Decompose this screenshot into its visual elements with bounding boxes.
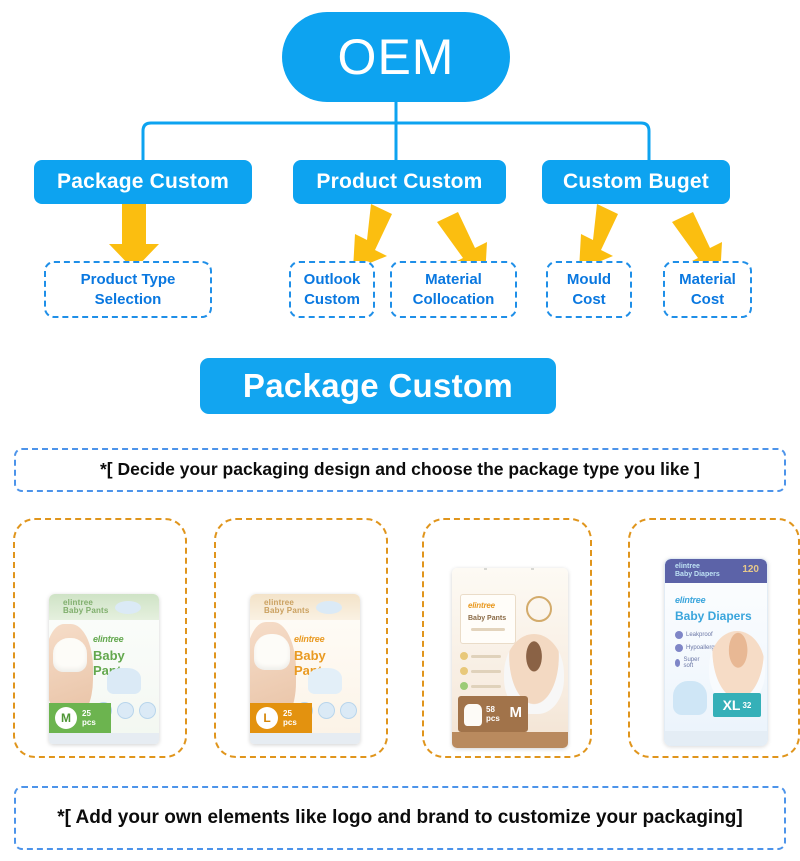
product-frame-1[interactable]: elintree Baby Pants elintree Baby Pants … [13, 518, 187, 758]
feature-badge-icon [318, 702, 335, 719]
note-custom-elements: *[ Add your own elements like logo and b… [14, 786, 786, 850]
package-handle [484, 568, 534, 570]
feature-badge-icon [340, 702, 357, 719]
pack-count-badge: 120 [742, 564, 759, 575]
package-top-header: elintree Baby Diapers [675, 563, 720, 580]
brand-logo: elintree [294, 634, 324, 644]
leaf-node-product-type-selection[interactable]: Product Type Selection [44, 261, 212, 318]
pack-count: 32 [742, 701, 751, 710]
feature-bullet: Leakproof [675, 631, 713, 639]
size-label: L [256, 707, 278, 729]
diaper-thumbnail [464, 704, 482, 726]
leaf-label-line2: Cost [572, 290, 605, 310]
oem-root-label: OEM [338, 32, 455, 82]
brand-logo: elintree [468, 601, 495, 610]
leaf-node-material-collocation[interactable]: Material Collocation [390, 261, 517, 318]
diaper-on-baby [53, 638, 87, 672]
feature-bullet: Super soft [675, 657, 702, 669]
section-banner-title: Package Custom [243, 367, 513, 405]
leaf-label-line1: Material [425, 270, 482, 290]
feature-badge-icon [139, 702, 156, 719]
feature-bullet [460, 652, 501, 660]
leaf-label-line2: Cost [691, 290, 724, 310]
size-bar: XL 32 [713, 693, 761, 717]
size-bar: M 25 pcs [49, 703, 111, 733]
product-illustration [107, 668, 141, 694]
feature-bullet [460, 667, 501, 675]
note-text: *[ Decide your packaging design and choo… [100, 459, 700, 480]
feature-badge-icon [117, 702, 134, 719]
package-top-header: elintree Baby Pants [264, 599, 310, 616]
product-frame-3[interactable]: elintree Baby Pants [422, 518, 592, 758]
product-illustration [308, 668, 342, 694]
quality-seal-icon [526, 596, 552, 622]
leaf-label-line2: Collocation [413, 290, 495, 310]
pack-count: 25 pcs [283, 709, 297, 727]
product-package-4: elintree Baby Diapers 120 elintree Baby … [664, 558, 768, 746]
leaf-node-mould-cost[interactable]: Mould Cost [546, 261, 632, 318]
product-title: Baby Pants [468, 615, 506, 622]
leaf-node-outlook-custom[interactable]: Outlook Custom [289, 261, 375, 318]
package-top-panel: elintree Baby Pants [250, 594, 360, 620]
product-illustration [673, 681, 707, 715]
brand-logo: elintree [93, 634, 123, 644]
leaf-node-material-cost[interactable]: Material Cost [663, 261, 752, 318]
arrow-layer [0, 190, 800, 270]
decor-line [471, 628, 505, 631]
product-package-3: elintree Baby Pants [452, 568, 568, 748]
diaper-on-baby [254, 634, 290, 670]
package-bottom-band [452, 732, 568, 748]
note-packaging-design: *[ Decide your packaging design and choo… [14, 448, 786, 492]
feature-bullet [460, 682, 501, 690]
package-footer-strip [665, 731, 767, 745]
product-package-2: elintree Baby Pants elintree Baby Pants … [250, 594, 360, 744]
size-label: M [510, 704, 523, 721]
package-body: elintree Baby Pants M 25 pcs [49, 620, 159, 744]
package-body: elintree Baby Pants L 25 pcs [250, 620, 360, 744]
package-top-panel: elintree Baby Diapers 120 [665, 559, 767, 583]
package-top-oval [316, 601, 342, 614]
leaf-label-line1: Outlook [304, 270, 361, 290]
product-frame-2[interactable]: elintree Baby Pants elintree Baby Pants … [214, 518, 388, 758]
leaf-label-line2: Selection [95, 290, 162, 310]
pack-count: 58 pcs [486, 705, 500, 723]
size-bar: L 25 pcs [250, 703, 312, 733]
brand-logo: elintree [675, 595, 705, 605]
package-footer-strip [49, 733, 159, 744]
leaf-label-line1: Mould [567, 270, 611, 290]
pack-count: 25 pcs [82, 709, 96, 727]
size-label: M [55, 707, 77, 729]
leaf-label-line1: Material [679, 270, 736, 290]
note-text: *[ Add your own elements like logo and b… [57, 806, 743, 829]
leaf-label-line2: Custom [304, 290, 360, 310]
product-frame-4[interactable]: elintree Baby Diapers 120 elintree Baby … [628, 518, 800, 758]
section-banner: Package Custom [200, 358, 556, 414]
connector-tree [0, 100, 800, 160]
package-label-panel: elintree Baby Pants [460, 594, 516, 644]
package-footer-strip [250, 733, 360, 744]
product-title: Baby Diapers [675, 609, 752, 623]
product-package-1: elintree Baby Pants elintree Baby Pants … [49, 594, 159, 744]
package-top-header: elintree Baby Pants [63, 599, 109, 616]
leaf-label-line1: Product Type [81, 270, 176, 290]
package-top-panel: elintree Baby Pants [49, 594, 159, 620]
size-label: XL [723, 697, 741, 713]
package-top-oval [115, 601, 141, 614]
oem-root-node: OEM [282, 12, 510, 102]
size-bar: 58 pcs M [458, 696, 528, 732]
